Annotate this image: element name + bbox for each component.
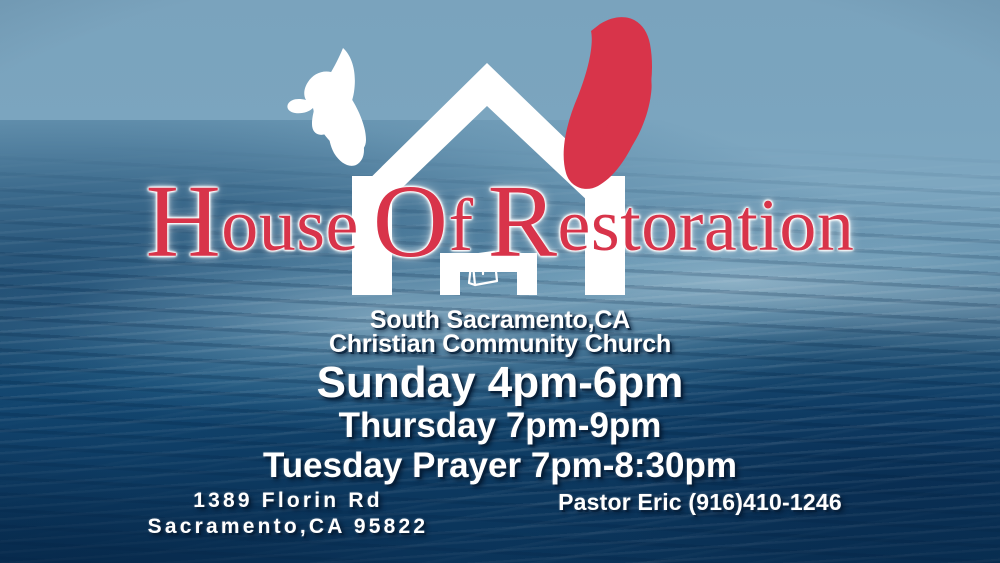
address-city-state-zip: Sacramento,CA 95822 <box>88 514 488 540</box>
pastor-contact: Pastor Eric (916)410-1246 <box>490 489 910 515</box>
service-time-tuesday-prayer: Tuesday Prayer 7pm-8:30pm <box>0 446 1000 486</box>
service-time-thursday: Thursday 7pm-9pm <box>0 406 1000 446</box>
flyer-canvas: HouseOfRestoration South Sacramento,CA C… <box>0 0 1000 563</box>
address-street: 1389 Florin Rd <box>88 488 488 514</box>
wordmark-cap-o: O <box>373 164 449 279</box>
wordmark-ouse: ouse <box>221 185 359 267</box>
wordmark-f: f <box>449 185 474 267</box>
church-address: 1389 Florin Rd Sacramento,CA 95822 <box>88 488 488 540</box>
footer-contact-row: 1389 Florin Rd Sacramento,CA 95822 Pasto… <box>0 488 1000 558</box>
wordmark-cap-h: H <box>146 164 222 279</box>
wordmark-house-of-restoration: HouseOfRestoration <box>0 186 1000 263</box>
service-time-sunday: Sunday 4pm-6pm <box>0 358 1000 408</box>
church-descriptor-line: Christian Community Church <box>0 330 1000 359</box>
wordmark-estoration: estoration <box>558 185 855 267</box>
wordmark-cap-r: R <box>488 164 558 279</box>
